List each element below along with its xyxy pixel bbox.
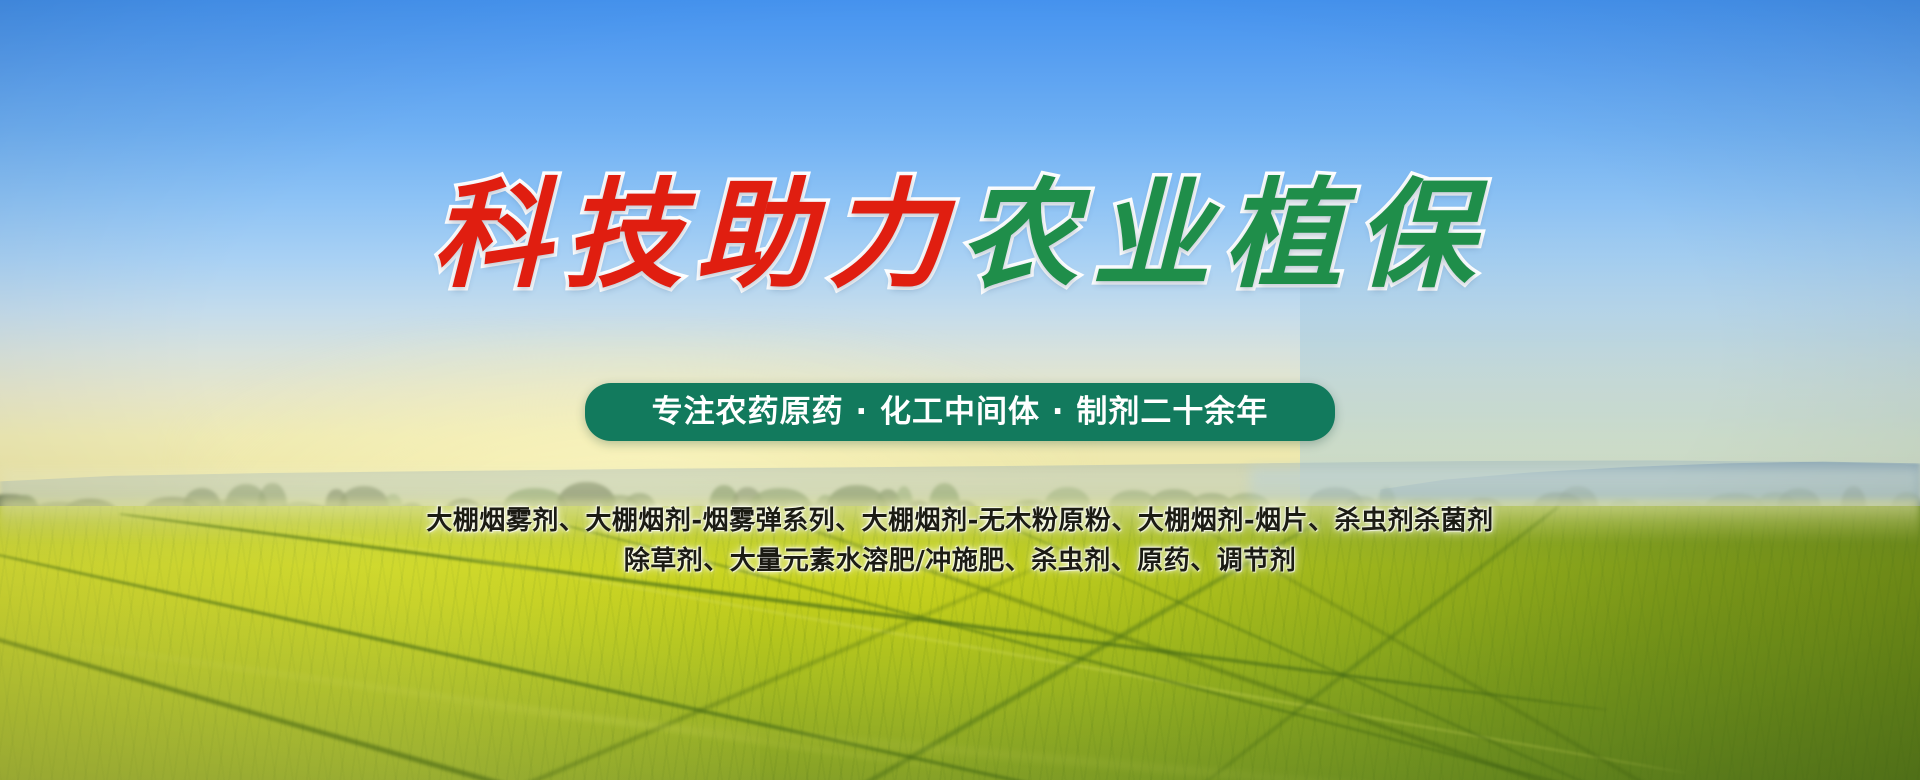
product-line-1: 大棚烟雾剂、大棚烟剂-烟雾弹系列、大棚烟剂-无木粉原粉、大棚烟剂-烟片、杀虫剂杀…: [0, 500, 1920, 537]
hero-banner: 科技助力农业植保 专注农药原药 · 化工中间体 · 制剂二十余年 大棚烟雾剂、大…: [0, 0, 1920, 780]
headline-green-part: 农业植保: [960, 165, 1488, 304]
headline-red-part: 科技助力: [432, 165, 960, 304]
banner-content: 科技助力农业植保 专注农药原药 · 化工中间体 · 制剂二十余年 大棚烟雾剂、大…: [0, 0, 1920, 780]
tagline-text: 专注农药原药 · 化工中间体 · 制剂二十余年: [652, 397, 1269, 428]
headline: 科技助力农业植保: [0, 172, 1920, 298]
tagline-pill: 专注农药原药 · 化工中间体 · 制剂二十余年: [585, 383, 1335, 441]
product-line-2: 除草剂、大量元素水溶肥/冲施肥、杀虫剂、原药、调节剂: [0, 540, 1920, 577]
